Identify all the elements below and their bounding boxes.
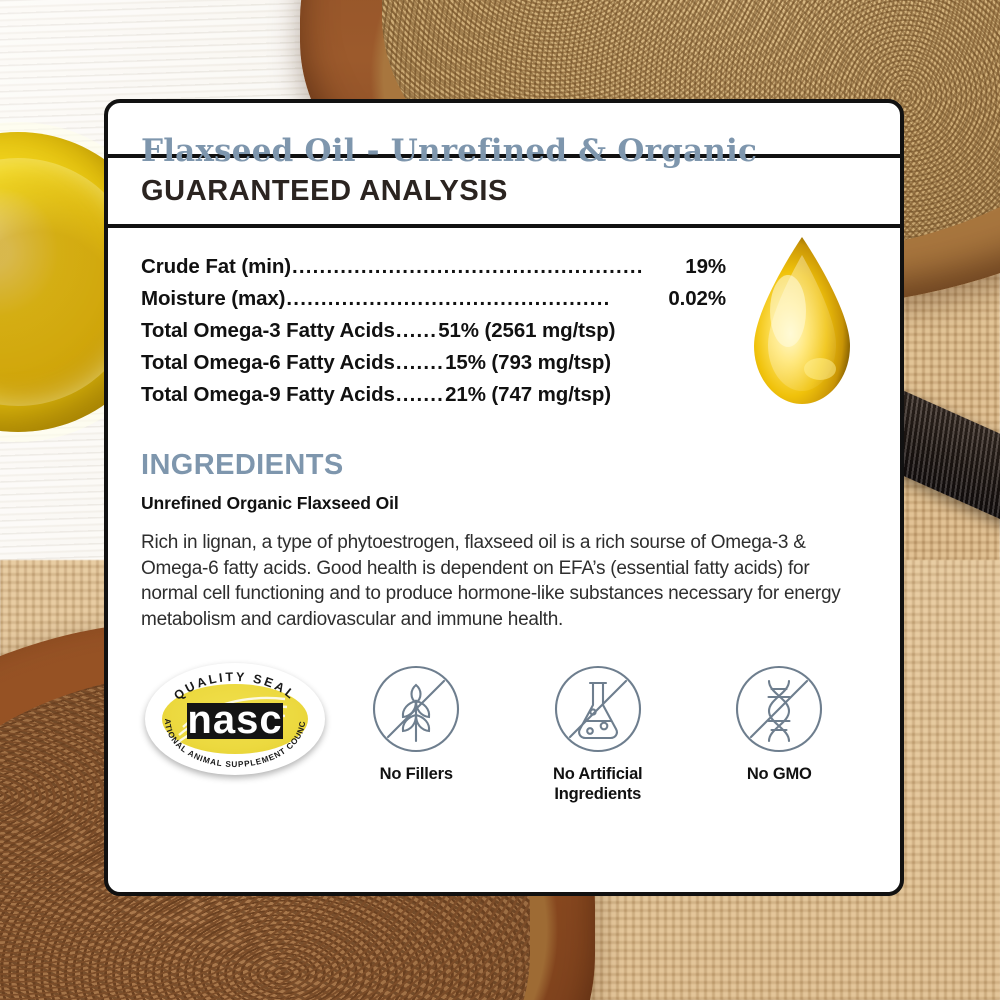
no-flask-icon bbox=[552, 663, 644, 755]
analysis-value: 15% (793 mg/tsp) bbox=[445, 351, 611, 375]
analysis-value: 19% bbox=[685, 255, 726, 279]
badge-nasc: QUALITY SEAL NATIONAL ANIMAL SUPPLEMENT … bbox=[144, 663, 326, 775]
table-row: Moisture (max) .........................… bbox=[141, 287, 726, 311]
badge-no-fillers: No Fillers bbox=[326, 663, 508, 784]
no-dna-icon bbox=[733, 663, 825, 755]
badge-no-gmo: No GMO bbox=[689, 663, 871, 784]
analysis-label: Total Omega-6 Fatty Acids bbox=[141, 351, 395, 375]
leader-dots: ....... bbox=[396, 351, 444, 375]
guaranteed-analysis-table: Crude Fat (min) ........................… bbox=[108, 228, 900, 407]
analysis-label: Total Omega-9 Fatty Acids bbox=[141, 383, 395, 407]
badge-label: No GMO bbox=[747, 764, 812, 784]
analysis-value: 21% (747 mg/tsp) bbox=[445, 383, 611, 407]
badge-no-artificial-ingredients: No Artificial Ingredients bbox=[507, 663, 689, 804]
badge-label: No Artificial Ingredients bbox=[553, 764, 642, 804]
table-row: Total Omega-6 Fatty Acids ....... 15% (7… bbox=[141, 351, 726, 375]
page-title: Flaxseed Oil - Unrefined & Organic bbox=[108, 103, 900, 154]
leader-dots: ...... bbox=[396, 319, 437, 343]
analysis-value: 51% (2561 mg/tsp) bbox=[438, 319, 615, 343]
product-description: Rich in lignan, a type of phytoestrogen,… bbox=[141, 530, 860, 632]
table-row: Total Omega-3 Fatty Acids ...... 51% (25… bbox=[141, 319, 726, 343]
leader-dots: ........................................… bbox=[286, 287, 667, 311]
ingredients-list: Unrefined Organic Flaxseed Oil bbox=[141, 493, 900, 514]
no-wheat-icon bbox=[370, 663, 462, 755]
seal-center-text: nasc bbox=[187, 698, 282, 742]
oil-drop-icon bbox=[742, 233, 862, 408]
certification-badges: QUALITY SEAL NATIONAL ANIMAL SUPPLEMENT … bbox=[108, 663, 900, 804]
analysis-label: Crude Fat (min) bbox=[141, 255, 291, 279]
product-label-card: Flaxseed Oil - Unrefined & Organic GUARA… bbox=[104, 99, 904, 896]
table-row: Crude Fat (min) ........................… bbox=[141, 255, 726, 279]
analysis-label: Total Omega-3 Fatty Acids bbox=[141, 319, 395, 343]
table-row: Total Omega-9 Fatty Acids ....... 21% (7… bbox=[141, 383, 726, 407]
badge-label: No Fillers bbox=[380, 764, 453, 784]
nasc-quality-seal-icon: QUALITY SEAL NATIONAL ANIMAL SUPPLEMENT … bbox=[145, 663, 325, 775]
leader-dots: ........................................… bbox=[292, 255, 684, 279]
leader-dots: ....... bbox=[396, 383, 444, 407]
analysis-value: 0.02% bbox=[668, 287, 726, 311]
ingredients-heading: INGREDIENTS bbox=[141, 449, 900, 482]
analysis-label: Moisture (max) bbox=[141, 287, 285, 311]
